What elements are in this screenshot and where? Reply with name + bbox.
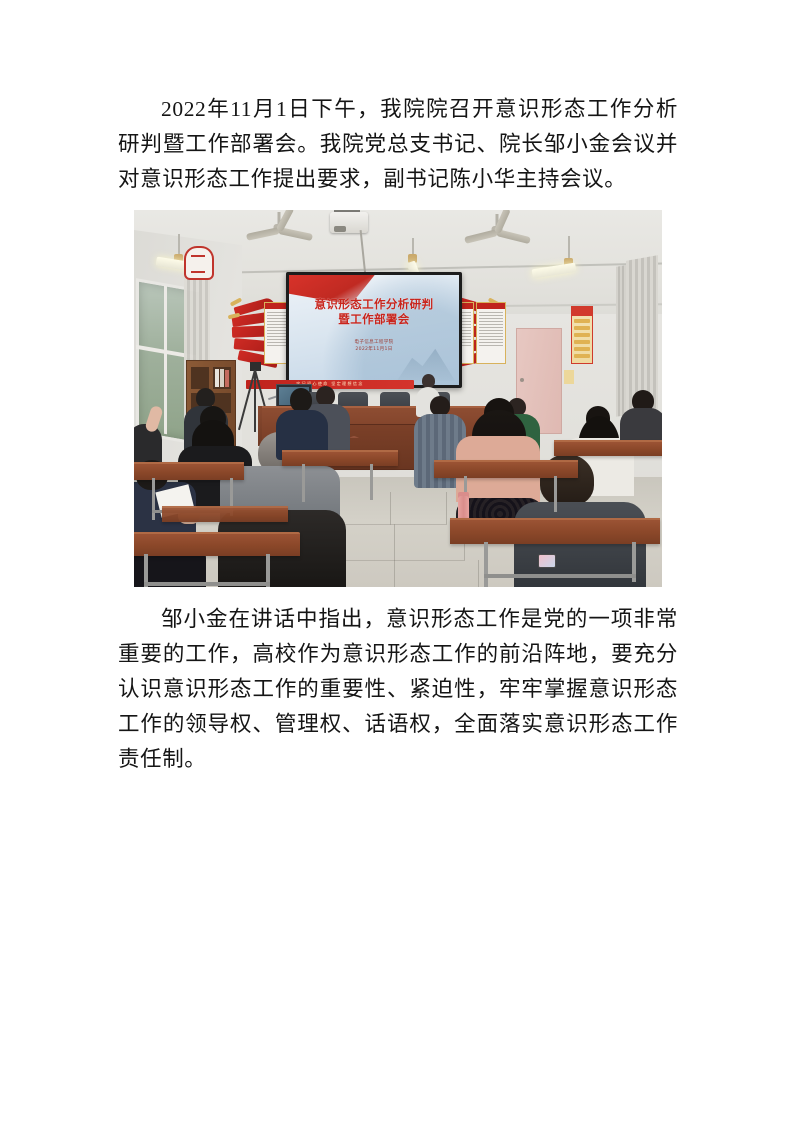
paragraph-speech: 邹小金在讲话中指出，意识形态工作是党的一项非常重要的工作，高校作为意识形态工作的… [118,602,678,778]
wall-emblem-icon [184,246,214,280]
student-table [282,450,398,466]
document-page: 2022年11月1日下午，我院院召开意识形态工作分析研判暨工作部署会。我院党总支… [0,0,793,1122]
photo-scene: 意识形态工作分析研判 暨工作部署会 电子信息工程学院 2022年11月1日 牢记… [134,210,662,587]
curtain-right-inner [616,265,626,417]
screen-subtitle-line2: 2022年11月1日 [289,346,459,353]
smartphone [538,554,556,568]
ceiling-fan [464,214,530,240]
screen-title: 意识形态工作分析研判 暨工作部署会 [289,297,459,327]
wall-note [564,370,574,384]
door-knob [520,378,524,382]
projection-screen: 意识形态工作分析研判 暨工作部署会 电子信息工程学院 2022年11月1日 [286,272,462,388]
ceiling-fan [246,212,312,238]
student-table [134,462,244,480]
meeting-photo: 意识形态工作分析研判 暨工作部署会 电子信息工程学院 2022年11月1日 牢记… [134,210,662,587]
screen-subtitle: 电子信息工程学院 2022年11月1日 [289,339,459,353]
wall-panel [476,302,506,364]
paragraph-intro: 2022年11月1日下午，我院院召开意识形态工作分析研判暨工作部署会。我院党总支… [118,92,678,198]
screen-title-line1: 意识形态工作分析研判 [289,297,459,312]
panel-lines [479,312,503,346]
student-table [134,532,300,556]
wall-banner-text: 牢记初心使命 坚定理想信念 [250,381,410,387]
panel-header [477,303,505,309]
student-table [162,506,288,522]
document-body: 2022年11月1日下午，我院院召开意识形态工作分析研判暨工作部署会。我院党总支… [118,92,678,778]
window-bar [164,285,167,434]
poster-header [572,307,592,316]
screen-surface: 意识形态工作分析研判 暨工作部署会 电子信息工程学院 2022年11月1日 [289,275,459,385]
projector-lens [334,226,346,232]
screen-title-line2: 暨工作部署会 [289,312,459,327]
student-table [554,440,662,456]
wall-poster [571,306,593,364]
screen-subtitle-line1: 电子信息工程学院 [289,339,459,346]
student-table [450,518,660,544]
